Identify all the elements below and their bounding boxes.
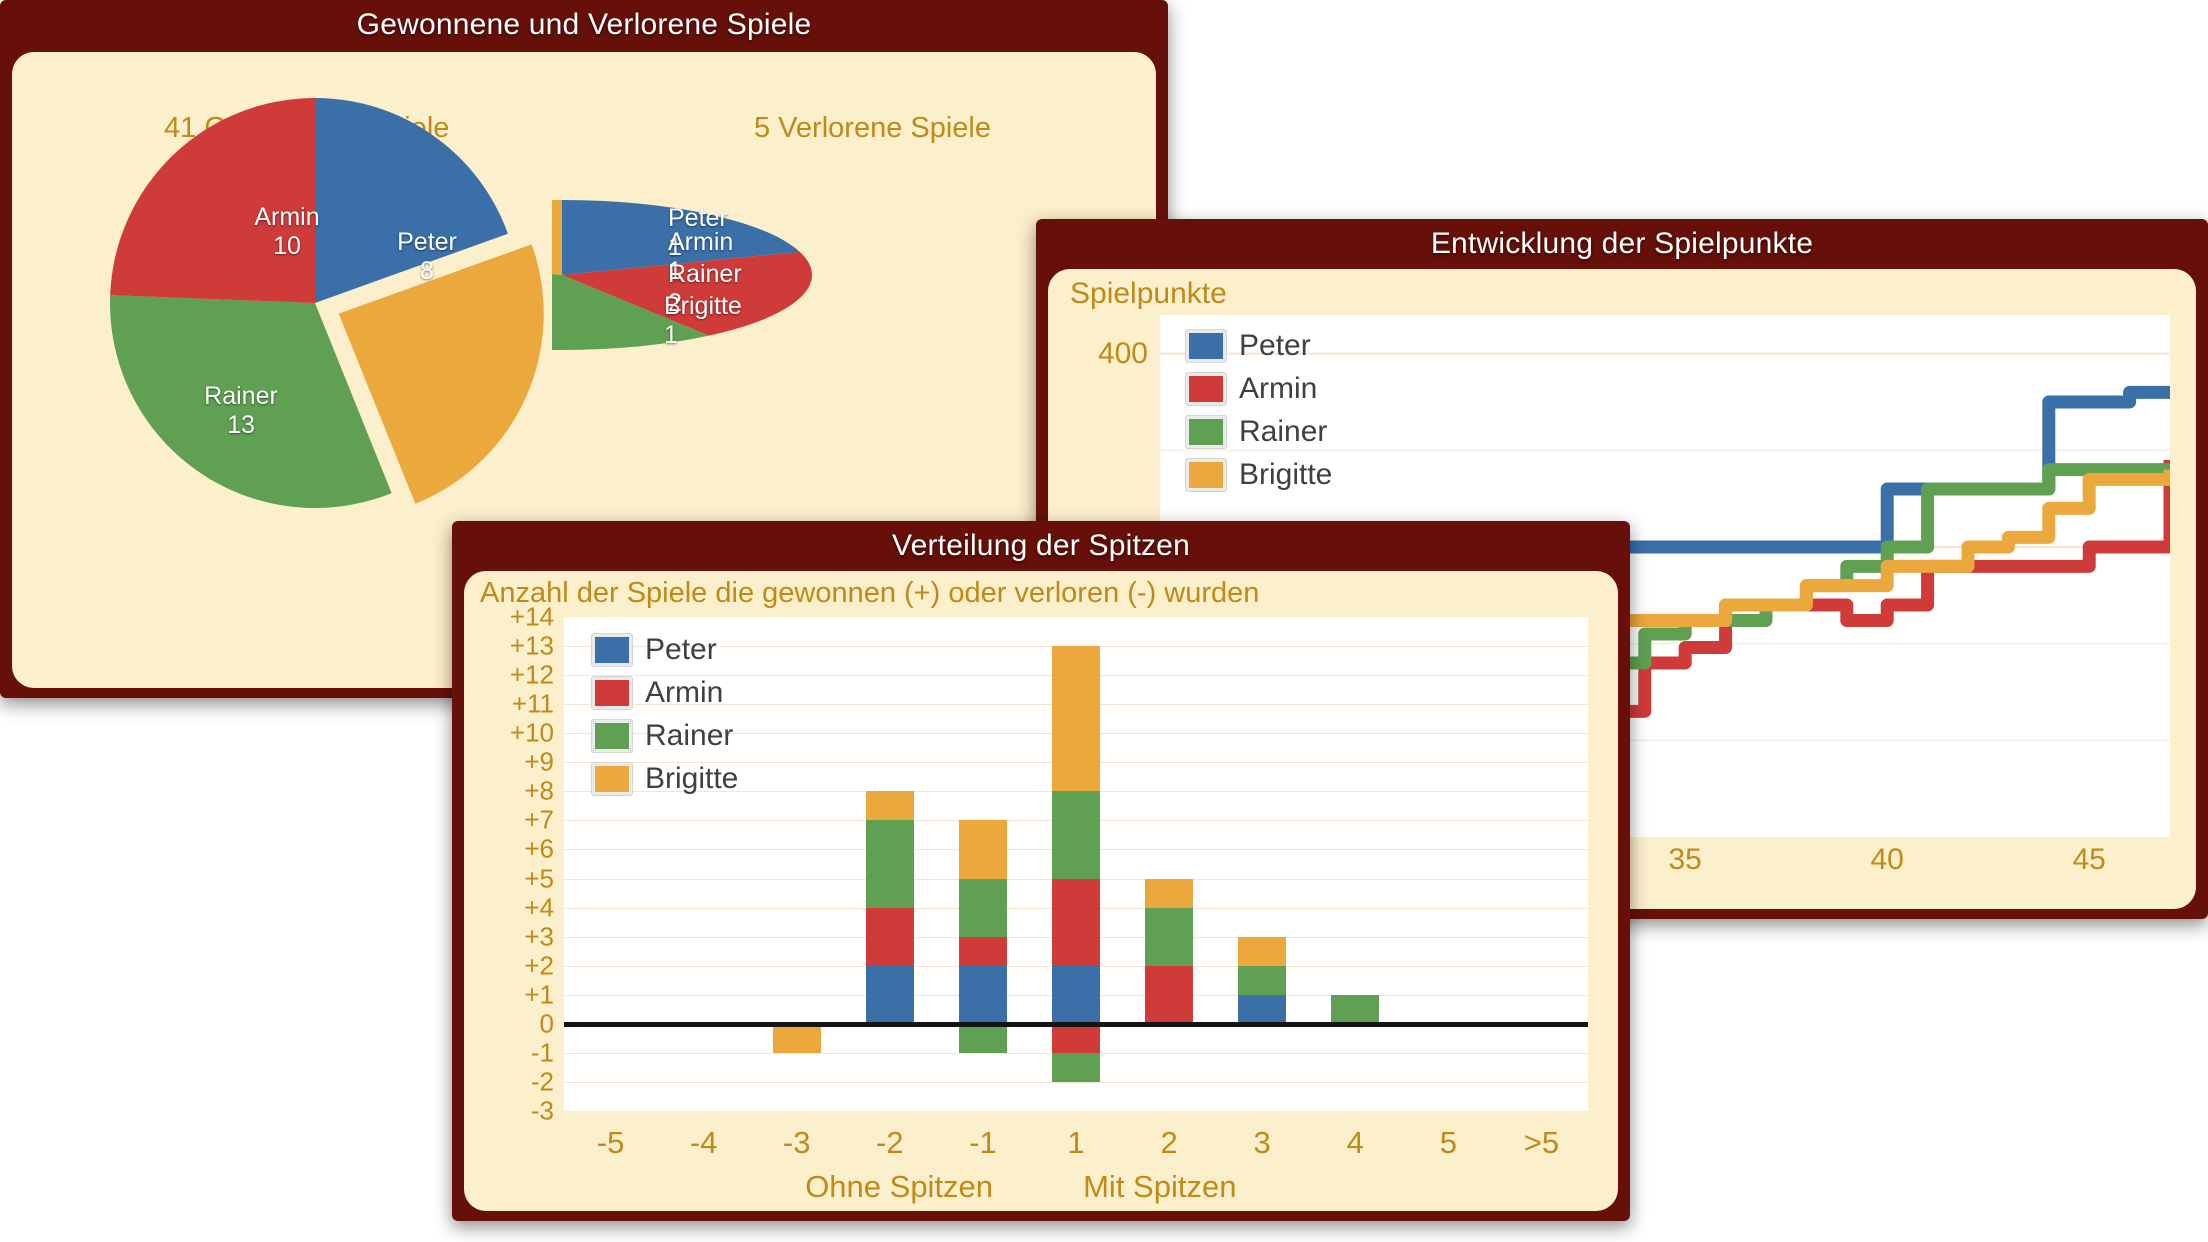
bar-column-5[interactable] [1424,617,1472,1111]
bar-y-tick-+3: +3 [466,921,554,952]
bar-x-tick--4: -4 [690,1125,718,1161]
bar-x-tick-3: 3 [1254,1125,1271,1161]
bar-segment-rainer[interactable] [1052,791,1100,878]
lost-games-caption: 5 Verlorene Spiele [754,112,991,145]
lost-games-pie[interactable]: Peter1 Armin1 Rainer2 Brigitte1 [552,200,822,350]
bar-column-1[interactable] [1052,617,1100,1111]
bar-segment-armin[interactable] [1052,879,1100,966]
bar-x-tick->5: >5 [1524,1125,1559,1161]
bar-y-tick-+1: +1 [466,979,554,1010]
bar-segment-rainer[interactable] [1331,995,1379,1024]
bar-plot-area[interactable]: PeterArminRainerBrigitte [564,617,1588,1111]
legend-item-rainer[interactable]: Rainer [1186,415,1332,449]
bar-segment-brigitte[interactable] [1238,937,1286,966]
won-games-pie[interactable]: Armin10 Peter8 Rainer13 [100,78,570,548]
bar-y-tick--1: -1 [466,1037,554,1068]
line-x-tick-35: 35 [1669,843,1702,877]
bar-segment-peter[interactable] [866,966,914,1024]
bar-y-tick--2: -2 [466,1066,554,1097]
legend-item-armin[interactable]: Armin [592,676,738,710]
legend-item-peter[interactable]: Peter [592,633,738,667]
legend-swatch-armin [592,677,632,709]
legend-item-brigitte[interactable]: Brigitte [1186,458,1332,492]
bar-segment-brigitte[interactable] [866,791,914,820]
bar-zero-axis-line [564,1022,1588,1027]
bar-segment-armin[interactable] [866,908,914,966]
bar-x-tick-5: 5 [1440,1125,1457,1161]
legend-label-brigitte: Brigitte [1239,458,1332,492]
bar-y-tick-+9: +9 [466,747,554,778]
bar-segment-rainer[interactable] [1145,908,1193,966]
bar-y-tick-+10: +10 [466,718,554,749]
bar-segment-rainer[interactable] [959,879,1007,937]
bar-x-tick-2: 2 [1160,1125,1177,1161]
bar-y-tick-+6: +6 [466,834,554,865]
bar-segment-negative-rainer[interactable] [959,1024,1007,1053]
bar-y-tick-+11: +11 [466,689,554,720]
legend-item-peter[interactable]: Peter [1186,329,1332,363]
line-x-tick-45: 45 [2073,843,2106,877]
line-y-axis-label: Spielpunkte [1070,277,1227,311]
legend-item-rainer[interactable]: Rainer [592,719,738,753]
bar-column-2[interactable] [1145,617,1193,1111]
bar-x-tick-1: 1 [1067,1125,1084,1161]
bar-y-tick-+7: +7 [466,805,554,836]
bar-y-tick-+12: +12 [466,660,554,691]
won-pie-slice-armin[interactable] [110,98,315,303]
bar-y-tick-+14: +14 [466,602,554,633]
bar-segment-brigitte[interactable] [1052,646,1100,791]
legend-swatch-armin [1186,373,1226,405]
bar-y-tick-+8: +8 [466,776,554,807]
legend-item-brigitte[interactable]: Brigitte [592,762,738,796]
legend-swatch-peter [1186,330,1226,362]
bar-segment-negative-brigitte[interactable] [773,1024,821,1053]
bar-x-tick--2: -2 [876,1125,904,1161]
lost-pie-slice-brigitte[interactable] [552,200,562,275]
bar-y-tick-0: 0 [466,1008,554,1039]
bar-column--3[interactable] [773,617,821,1111]
bar-column--1[interactable] [959,617,1007,1111]
legend-swatch-rainer [592,720,632,752]
bar-segment-negative-armin[interactable] [1052,1024,1100,1053]
bar-chart-legend[interactable]: PeterArminRainerBrigitte [592,633,738,796]
bar-segment-brigitte[interactable] [959,820,1007,878]
line-chart-legend[interactable]: PeterArminRainerBrigitte [1186,329,1332,492]
bar-chart-panel[interactable]: Verteilung der Spitzen Anzahl der Spiele… [452,521,1630,1221]
bar-x-tick-4: 4 [1347,1125,1364,1161]
legend-swatch-peter [592,634,632,666]
bar-segment-peter[interactable] [1238,995,1286,1024]
bar-x-tick--5: -5 [597,1125,625,1161]
bar-column-3[interactable] [1238,617,1286,1111]
bar-segment-rainer[interactable] [866,820,914,907]
bar-y-tick-+5: +5 [466,863,554,894]
bar-segment-armin[interactable] [1145,966,1193,1024]
legend-label-rainer: Rainer [645,719,733,753]
bar-group-label-ohne-spitzen: Ohne Spitzen [805,1169,993,1205]
bar-group-label-mit-spitzen: Mit Spitzen [1083,1169,1236,1205]
pie-panel-title: Gewonnene und Verlorene Spiele [0,0,1168,48]
line-y-tick-400: 400 [1052,337,1148,371]
bar-segment-peter[interactable] [1052,966,1100,1024]
lost-pie-svg [552,200,822,350]
bar-column-4[interactable] [1331,617,1379,1111]
bar-segment-brigitte[interactable] [1145,879,1193,908]
bar-segment-peter[interactable] [959,966,1007,1024]
legend-label-armin: Armin [1239,372,1317,406]
bar-column->5[interactable] [1517,617,1565,1111]
line-panel-title: Entwicklung der Spielpunkte [1036,219,2208,267]
legend-label-peter: Peter [645,633,717,667]
line-x-tick-40: 40 [1871,843,1904,877]
bar-chart-subtitle: Anzahl der Spiele die gewonnen (+) oder … [480,577,1259,610]
won-pie-svg [100,78,570,548]
legend-label-armin: Armin [645,676,723,710]
legend-swatch-brigitte [592,763,632,795]
bar-x-tick--1: -1 [969,1125,997,1161]
legend-label-brigitte: Brigitte [645,762,738,796]
bar-panel-body: Anzahl der Spiele die gewonnen (+) oder … [464,571,1618,1211]
bar-segment-negative-rainer[interactable] [1052,1053,1100,1082]
legend-label-rainer: Rainer [1239,415,1327,449]
bar-segment-rainer[interactable] [1238,966,1286,995]
bar-y-tick-+2: +2 [466,950,554,981]
bar-column--2[interactable] [866,617,914,1111]
bar-x-tick--3: -3 [783,1125,811,1161]
legend-label-peter: Peter [1239,329,1311,363]
legend-swatch-brigitte [1186,459,1226,491]
legend-swatch-rainer [1186,416,1226,448]
bar-segment-armin[interactable] [959,937,1007,966]
bar-y-tick--3: -3 [466,1096,554,1127]
bar-y-tick-+4: +4 [466,892,554,923]
bar-y-tick-+13: +13 [466,631,554,662]
legend-item-armin[interactable]: Armin [1186,372,1332,406]
bar-panel-title: Verteilung der Spitzen [452,521,1630,569]
